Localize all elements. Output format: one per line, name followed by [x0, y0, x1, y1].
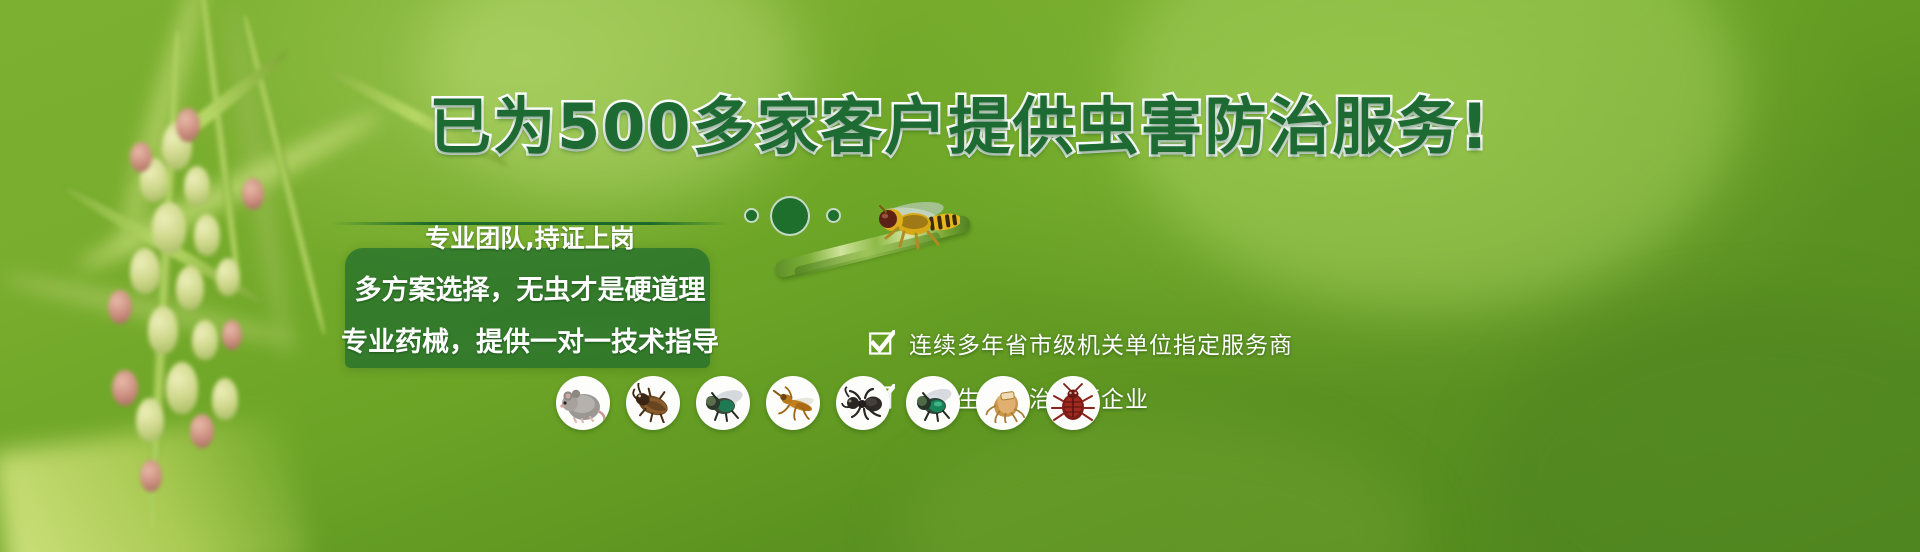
- selling-point-line-1: 专业团队,持证上岗: [425, 219, 635, 255]
- list-item: 连续多年省市级机关单位指定服务商: [868, 326, 1293, 360]
- promotional-banner: 已为500多家客户提供虫害防治服务! 专业团队,持证上岗 多方案选择，无虫才是硬…: [0, 0, 1920, 552]
- large-dot-icon: [770, 196, 810, 236]
- small-dot-icon: [826, 208, 841, 223]
- headline-text: 已为500多家客户提供虫害防治服务!: [429, 90, 1491, 163]
- mouse-icon[interactable]: [556, 376, 610, 430]
- hoverfly-icon: [852, 198, 960, 250]
- mosquito-icon[interactable]: [766, 376, 820, 430]
- selling-point-line-2: 多方案选择，无虫才是硬道理: [355, 268, 706, 307]
- flea-icon[interactable]: [976, 376, 1030, 430]
- selling-point-line-3: 专业药械，提供一对一技术指导: [341, 320, 719, 359]
- pest-icon-row: [556, 376, 1100, 430]
- bedbug-icon[interactable]: [1046, 376, 1100, 430]
- cockroach-icon[interactable]: [626, 376, 680, 430]
- small-dot-icon: [744, 208, 759, 223]
- blowfly-icon[interactable]: [906, 376, 960, 430]
- checkbox-checked-icon: [868, 330, 895, 357]
- ant-icon[interactable]: [836, 376, 890, 430]
- checklist-item-label: 连续多年省市级机关单位指定服务商: [909, 326, 1293, 360]
- fly-icon[interactable]: [696, 376, 750, 430]
- selling-points-text: 专业团队,持证上岗 多方案选择，无虫才是硬道理 专业药械，提供一对一技术指导: [330, 208, 730, 359]
- page-title: 已为500多家客户提供虫害防治服务!: [0, 76, 1920, 166]
